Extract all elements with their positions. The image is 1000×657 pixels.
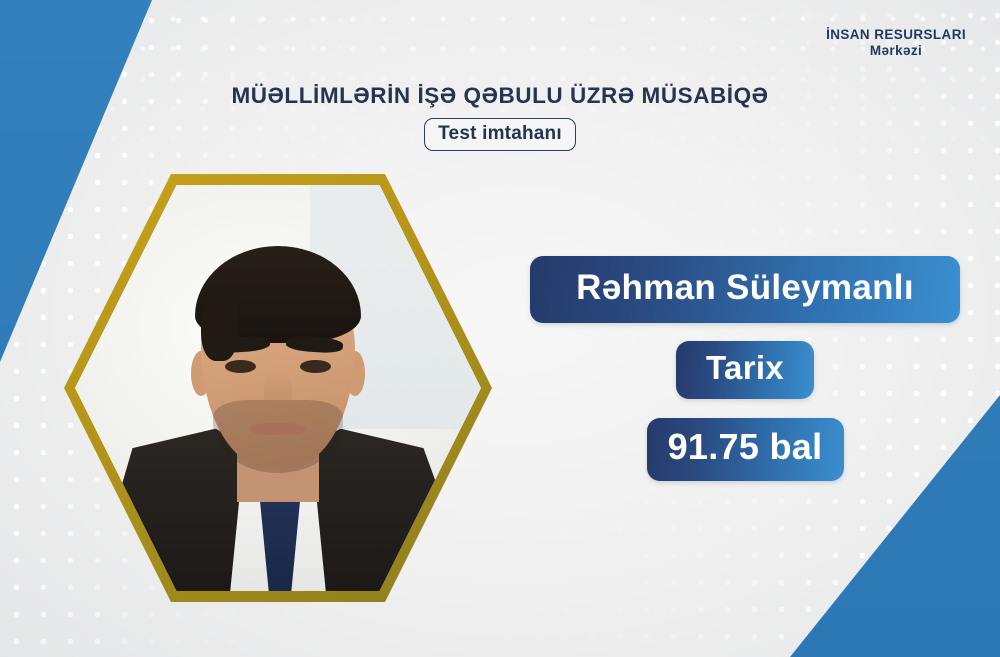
organization-logo: İNSAN RESURSLARI Mərkəzi [826, 27, 966, 58]
logo-line-secondary: Mərkəzi [826, 43, 966, 59]
page-title: MÜƏLLİMLƏRİN İŞƏ QƏBULU ÜZRƏ MÜSABİQƏ [0, 83, 1000, 109]
candidate-photo-frame [64, 174, 492, 602]
portrait-mouth [250, 423, 307, 436]
hexagon-inner [75, 185, 481, 591]
candidate-score-badge: 91.75 bal [647, 418, 844, 481]
portrait-eye-right [300, 360, 330, 373]
candidate-subject-badge: Tarix [676, 341, 814, 399]
exam-type-label: Test imtahanı [438, 123, 562, 144]
candidate-info-block: Rəhman Süleymanlı Tarix 91.75 bal [530, 256, 960, 481]
logo-line-primary: İNSAN RESURSLARI [826, 27, 966, 43]
achievement-poster: İNSAN RESURSLARI Mərkəzi MÜƏLLİMLƏRİN İŞ… [0, 0, 1000, 657]
candidate-name-badge: Rəhman Süleymanlı [530, 256, 960, 323]
portrait-eye-left [225, 360, 255, 373]
candidate-avatar [75, 185, 481, 591]
exam-type-badge: Test imtahanı [424, 118, 576, 151]
headline-block: MÜƏLLİMLƏRİN İŞƏ QƏBULU ÜZRƏ MÜSABİQƏ Te… [0, 83, 1000, 151]
